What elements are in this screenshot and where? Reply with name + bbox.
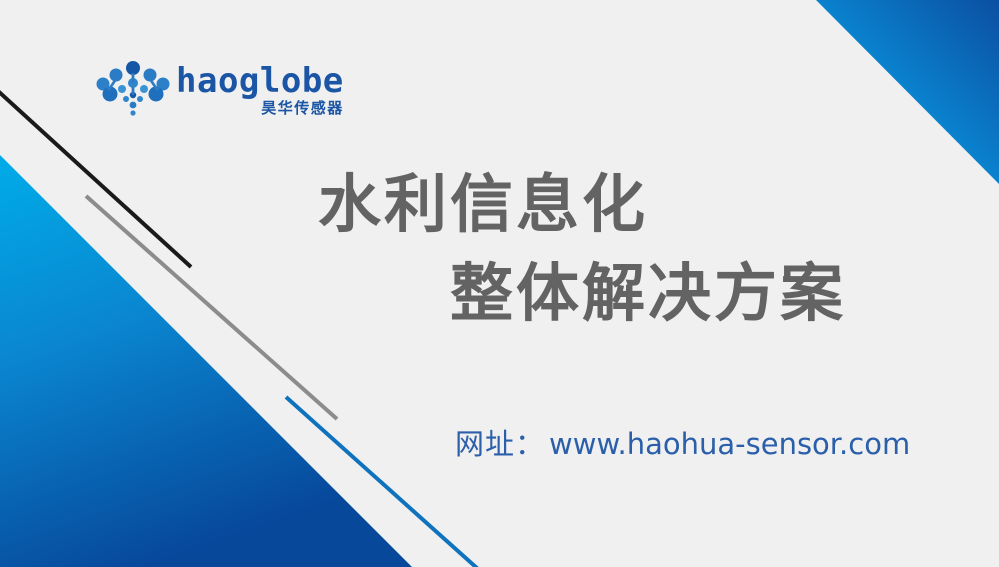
website-line: 网址： www.haohua-sensor.com <box>455 421 910 463</box>
brand-sub-name: 昊华传感器 <box>261 101 344 116</box>
network-dots-logo-icon <box>96 61 170 119</box>
title-line-1: 水利信息化 <box>318 160 920 249</box>
website-label: 网址： <box>455 421 545 463</box>
brand-logo: haoglobe 昊华传感器 <box>96 57 322 123</box>
slide-title: 水利信息化 整体解决方案 <box>300 160 920 339</box>
brand-wordmark: haoglobe <box>176 64 344 98</box>
diagonal-line-blue <box>286 397 478 567</box>
brand-wordmark-group: haoglobe 昊华传感器 <box>176 64 344 116</box>
website-url[interactable]: www.haohua-sensor.com <box>549 427 910 461</box>
title-line-2: 整体解决方案 <box>450 249 920 338</box>
slide-canvas: haoglobe 昊华传感器 水利信息化 整体解决方案 网址： www.haoh… <box>0 0 999 567</box>
right-triangle-shape <box>816 0 999 184</box>
